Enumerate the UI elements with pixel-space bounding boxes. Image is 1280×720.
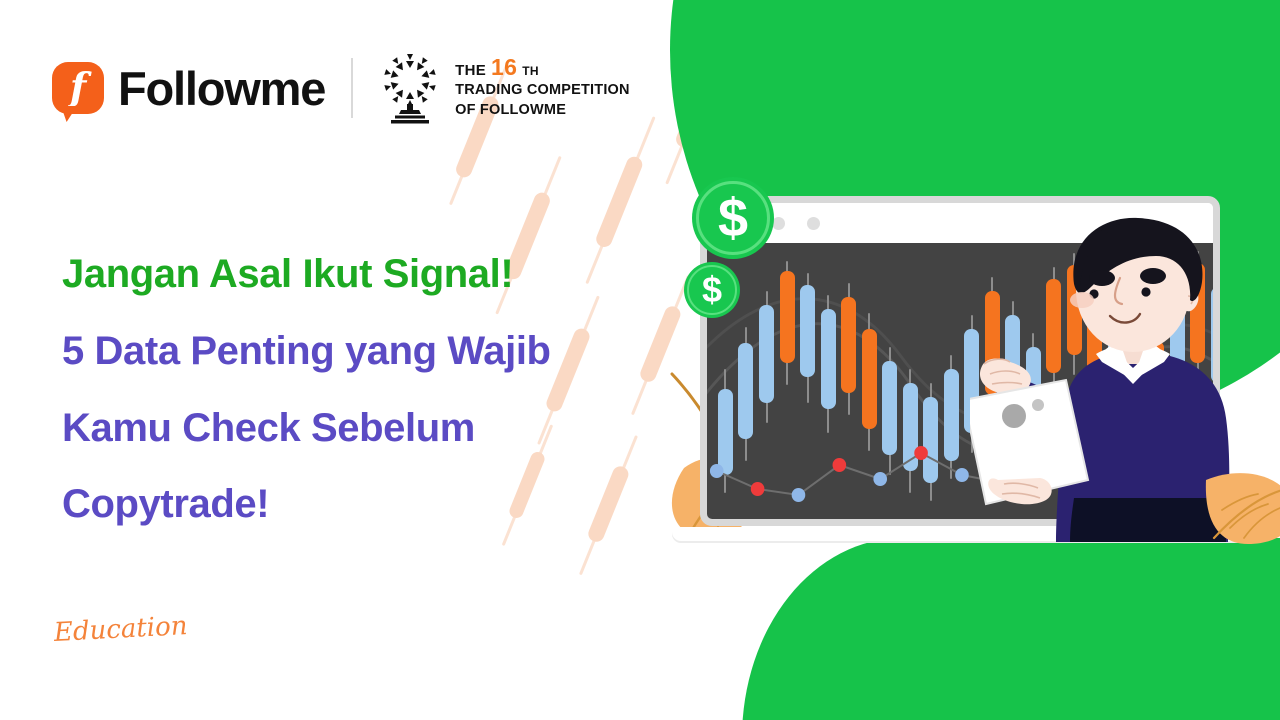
brand-name: Followme (118, 61, 325, 116)
candlestick (780, 261, 795, 385)
headline-line-4: Copytrade! (62, 466, 682, 543)
scatter-point (710, 464, 724, 478)
category-label: Education (53, 611, 188, 648)
green-bottom-shape (742, 538, 1280, 720)
trophy-globe-emblem-icon (379, 52, 441, 124)
headline-line-3: Kamu Check Sebelum (62, 390, 682, 467)
dollar-coin-large: $ (692, 177, 774, 259)
badge-ordinal-suffix: TH (522, 63, 539, 79)
scatter-point (914, 446, 928, 460)
header: f Followme (52, 52, 630, 124)
candlestick (841, 283, 856, 415)
followme-f-speech-bubble-icon: f (52, 62, 104, 114)
scatter-point (955, 468, 969, 482)
badge-line-3: OF FOLLOWME (455, 101, 630, 120)
competition-badge: THE 16 TH TRADING COMPETITION OF FOLLOWM… (379, 52, 630, 124)
header-divider (351, 58, 353, 118)
dollar-coin-small: $ (684, 262, 740, 318)
headline-line-2: 5 Data Penting yang Wajib (62, 313, 682, 390)
candlestick (800, 273, 815, 403)
scatter-point (833, 458, 847, 472)
badge-line-2: TRADING COMPETITION (455, 81, 630, 100)
dollar-sign-icon: $ (702, 272, 722, 308)
dollar-sign-icon: $ (718, 191, 748, 245)
scatter-point (751, 482, 765, 496)
badge-the: THE (455, 61, 486, 81)
badge-text: THE 16 TH TRADING COMPETITION OF FOLLOWM… (455, 56, 630, 120)
headline-block: Jangan Asal Ikut Signal! 5 Data Penting … (62, 236, 682, 543)
scatter-point (873, 472, 887, 486)
candlestick (759, 291, 774, 423)
badge-edition-number: 16 (491, 56, 517, 79)
headline-line-1: Jangan Asal Ikut Signal! (62, 236, 682, 313)
leaf-right (1196, 444, 1280, 554)
banner-canvas: $ $ (0, 0, 1280, 720)
brand-lockup[interactable]: f Followme (52, 61, 325, 116)
window-dot-3 (807, 217, 820, 230)
scatter-point (792, 488, 806, 502)
badge-line-1: THE 16 TH (455, 56, 630, 81)
